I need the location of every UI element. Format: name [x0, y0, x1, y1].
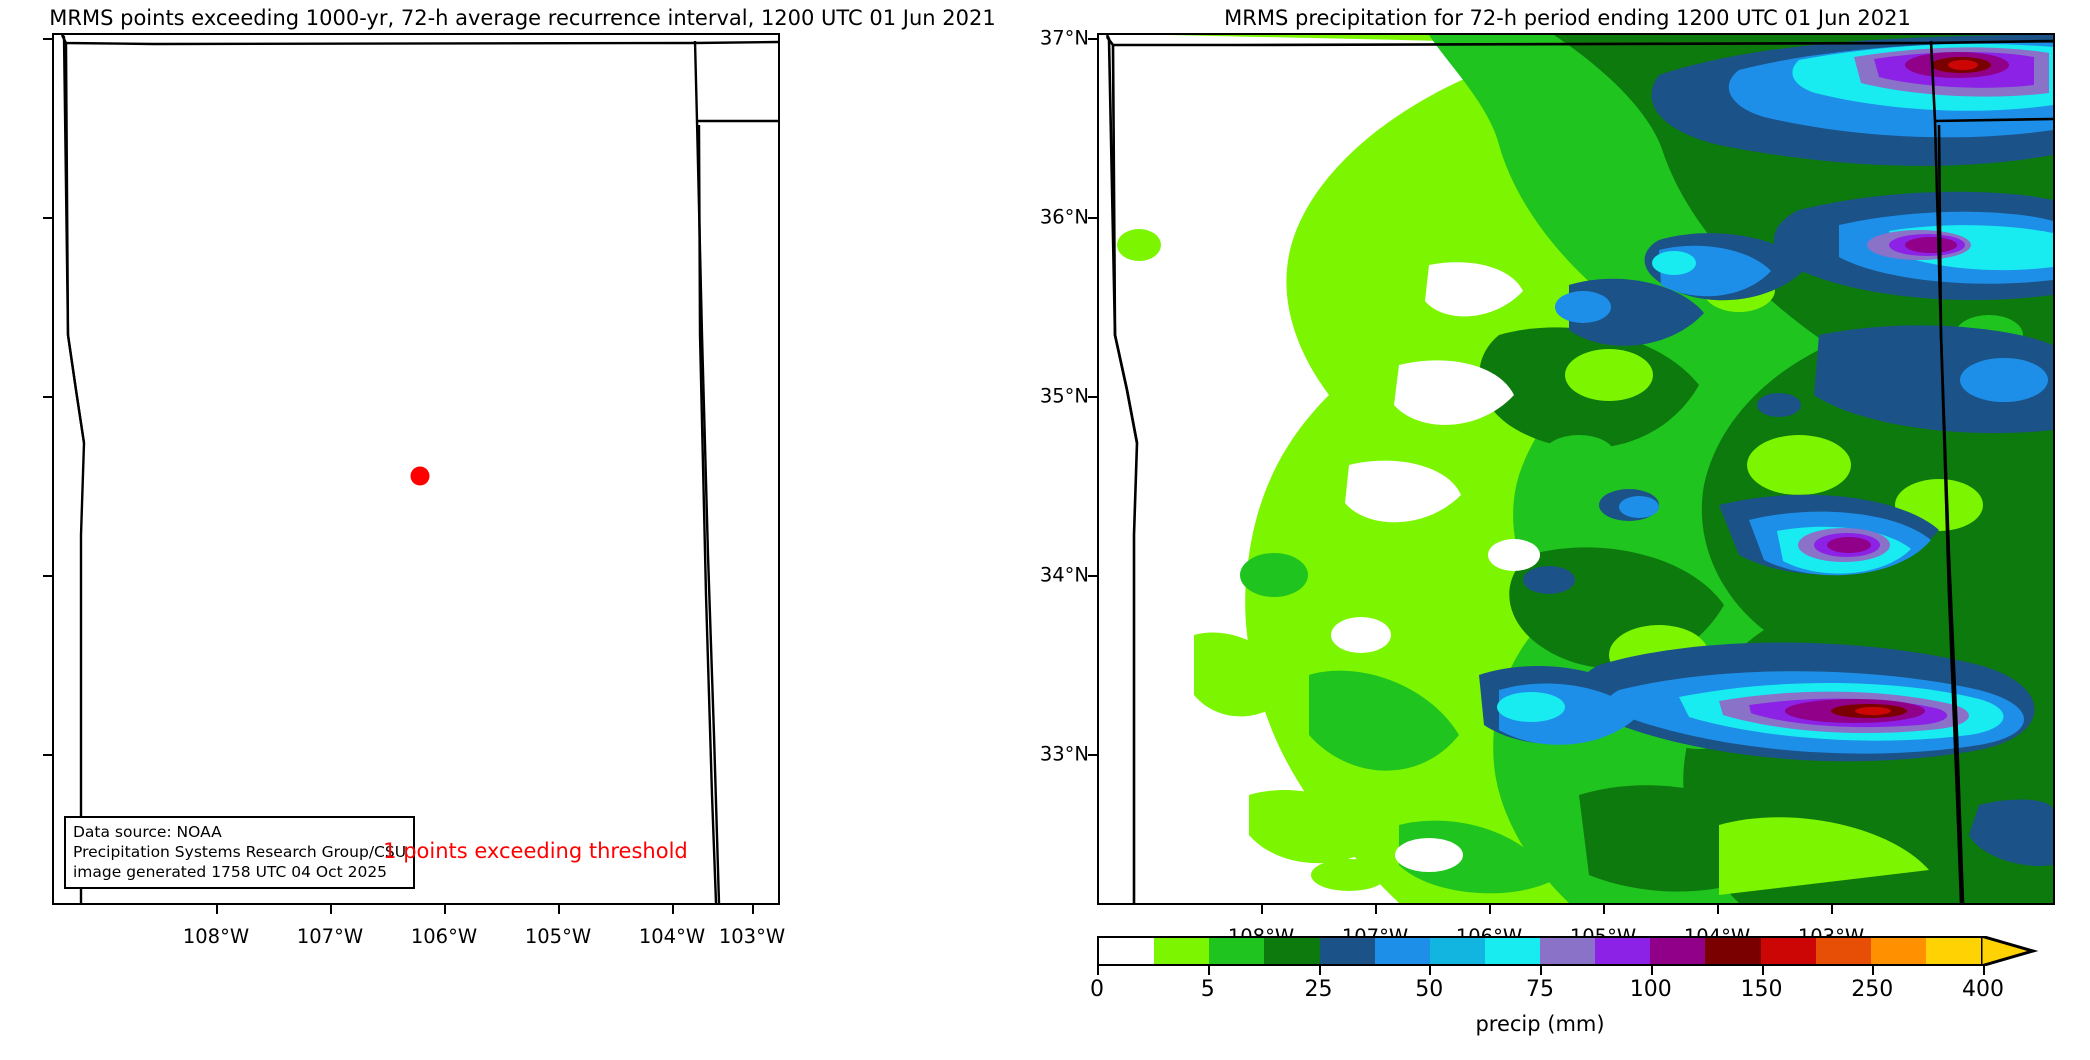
points-panel-title: MRMS points exceeding 1000-yr, 72-h aver…: [0, 6, 1045, 30]
colorbar-tick-0: [1097, 966, 1099, 975]
colorbar-band-15: [1926, 938, 1981, 964]
colorbar: 05255075100150250400 precip (mm): [1097, 936, 2055, 1048]
precipitation-field: [1099, 35, 2053, 903]
y-tick-4: [43, 754, 52, 756]
credit-line-1: Data source: NOAA: [73, 822, 406, 842]
colorbar-tick-8: [1983, 966, 1985, 975]
exceedance-point[interactable]: [411, 466, 430, 485]
colorbar-tick-7: [1872, 966, 1874, 975]
colorbar-tick-label-7: 250: [1851, 977, 1893, 1002]
x-tick-r1: [1375, 905, 1377, 914]
colorbar-tick-label-2: 25: [1305, 977, 1333, 1002]
x-tick-3: [558, 905, 560, 914]
colorbar-band-10: [1650, 938, 1705, 964]
x-tick-1: [330, 905, 332, 914]
colorbar-tick-1: [1208, 966, 1210, 975]
colorbar-tick-2: [1319, 966, 1321, 975]
colorbar-band-6: [1430, 938, 1485, 964]
x-tick-r4: [1717, 905, 1719, 914]
y-tick-r1: [1088, 217, 1097, 219]
x-label-107w: 107°W: [297, 925, 363, 948]
colorbar-band-7: [1485, 938, 1540, 964]
colorbar-band-9: [1595, 938, 1650, 964]
colorbar-bands[interactable]: [1097, 936, 1983, 966]
colorbar-band-1: [1154, 938, 1209, 964]
precip-map-axes: [1097, 33, 2055, 905]
colorbar-title: precip (mm): [1097, 1012, 1983, 1036]
x-label-106w: 106°W: [411, 925, 477, 948]
colorbar-tick-label-8: 400: [1962, 977, 2004, 1002]
x-tick-4: [672, 905, 674, 914]
y-tick-r4: [1088, 754, 1097, 756]
x-label-108w: 108°W: [183, 925, 249, 948]
y-label-r-34n: 34°N: [1040, 564, 1089, 587]
points-panel: MRMS points exceeding 1000-yr, 72-h aver…: [0, 0, 1045, 1060]
colorbar-band-12: [1761, 938, 1816, 964]
y-tick-0: [43, 38, 52, 40]
threshold-annotation: 1 points exceeding threshold: [383, 839, 688, 863]
x-tick-5: [752, 905, 754, 914]
colorbar-tick-label-3: 50: [1415, 977, 1443, 1002]
colorbar-band-4: [1320, 938, 1375, 964]
credit-box: Data source: NOAA Precipitation Systems …: [64, 816, 415, 889]
x-label-105w: 105°W: [525, 925, 591, 948]
colorbar-band-13: [1816, 938, 1871, 964]
figure-canvas: MRMS points exceeding 1000-yr, 72-h aver…: [0, 0, 2090, 1060]
colorbar-band-8: [1540, 938, 1595, 964]
colorbar-tick-label-5: 100: [1630, 977, 1672, 1002]
colorbar-tick-label-4: 75: [1526, 977, 1554, 1002]
y-tick-r3: [1088, 575, 1097, 577]
x-tick-r5: [1831, 905, 1833, 914]
y-label-r-35n: 35°N: [1040, 385, 1089, 408]
colorbar-tick-label-0: 0: [1090, 977, 1104, 1002]
colorbar-band-3: [1264, 938, 1319, 964]
y-tick-2: [43, 396, 52, 398]
colorbar-max-arrow: [1981, 936, 2041, 966]
colorbar-band-14: [1871, 938, 1926, 964]
colorbar-tick-5: [1651, 966, 1653, 975]
x-tick-r3: [1603, 905, 1605, 914]
colorbar-band-2: [1209, 938, 1264, 964]
x-tick-r0: [1261, 905, 1263, 914]
y-tick-r0: [1088, 38, 1097, 40]
x-tick-2: [444, 905, 446, 914]
colorbar-band-11: [1705, 938, 1760, 964]
colorbar-tick-label-1: 5: [1201, 977, 1215, 1002]
y-label-r-37n: 37°N: [1040, 27, 1089, 50]
colorbar-tick-3: [1429, 966, 1431, 975]
colorbar-band-0: [1099, 938, 1154, 964]
credit-line-3: image generated 1758 UTC 04 Oct 2025: [73, 862, 406, 882]
precip-panel-title: MRMS precipitation for 72-h period endin…: [1045, 6, 2090, 30]
y-tick-r2: [1088, 396, 1097, 398]
credit-line-2: Precipitation Systems Research Group/CSU: [73, 842, 406, 862]
x-label-103w: 103°W: [719, 925, 785, 948]
y-label-r-36n: 36°N: [1040, 206, 1089, 229]
y-label-r-33n: 33°N: [1040, 743, 1089, 766]
colorbar-tick-6: [1762, 966, 1764, 975]
y-tick-3: [43, 575, 52, 577]
x-tick-r2: [1489, 905, 1491, 914]
colorbar-tick-4: [1540, 966, 1542, 975]
precip-panel: MRMS precipitation for 72-h period endin…: [1045, 0, 2090, 1060]
colorbar-tick-label-6: 150: [1741, 977, 1783, 1002]
x-tick-0: [216, 905, 218, 914]
colorbar-band-5: [1375, 938, 1430, 964]
points-map-axes: Data source: NOAA Precipitation Systems …: [52, 33, 780, 905]
y-tick-1: [43, 217, 52, 219]
x-label-104w: 104°W: [639, 925, 705, 948]
